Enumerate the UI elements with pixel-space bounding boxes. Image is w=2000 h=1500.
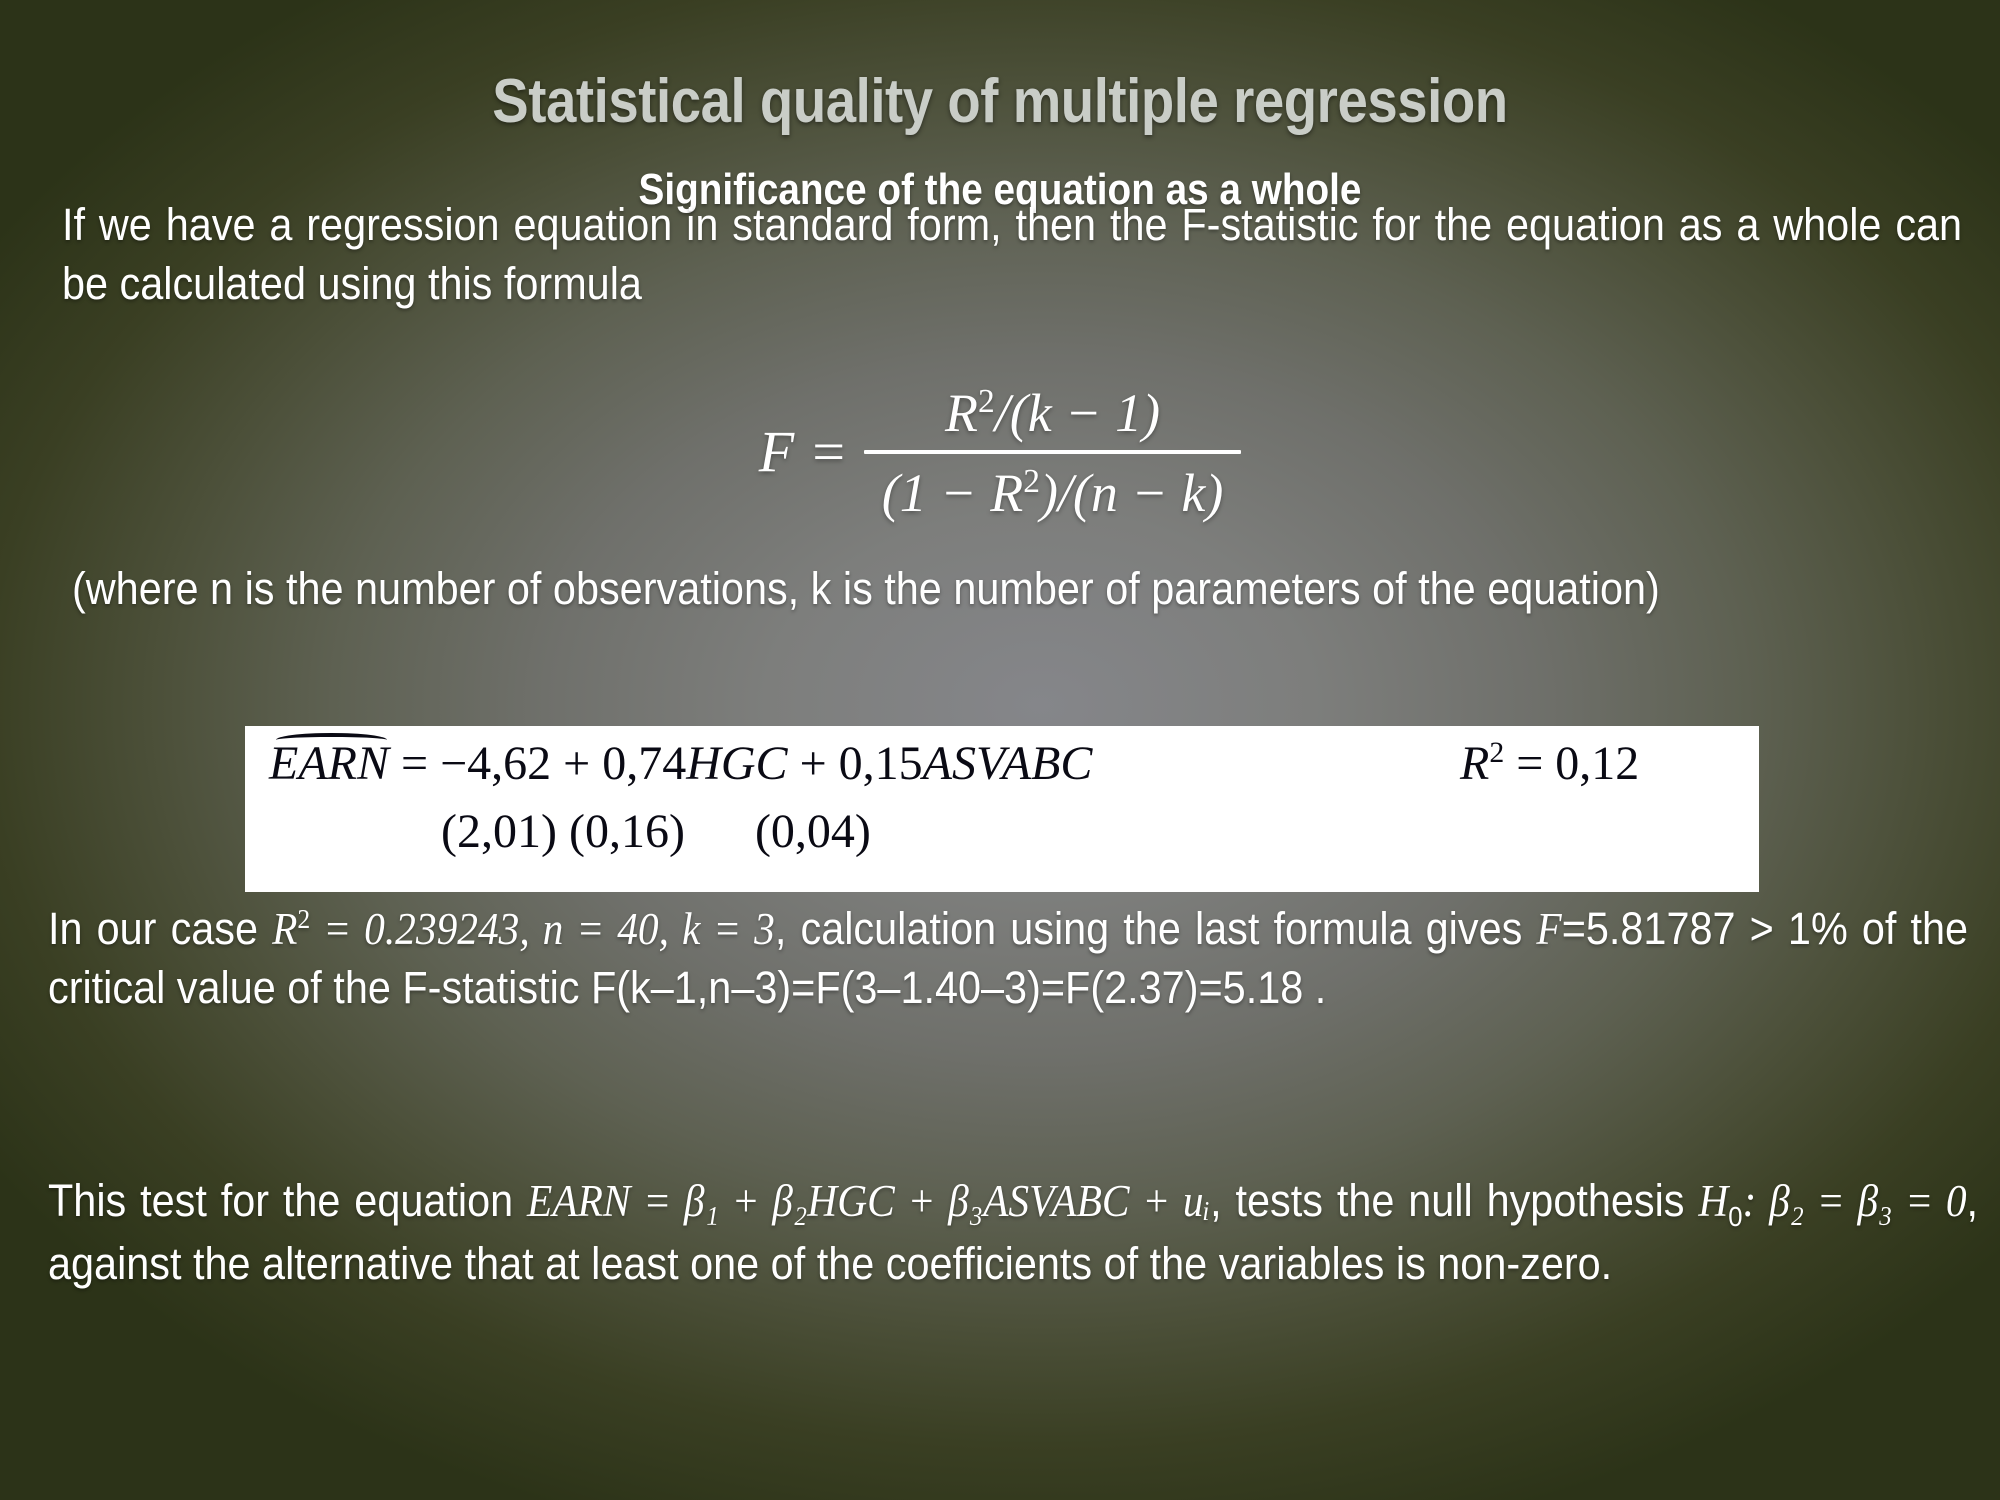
formula-left-hand-side: F = <box>759 418 864 489</box>
numerator-base: R <box>945 383 978 443</box>
equation-plus-1: + <box>563 737 590 790</box>
page-title: Statistical quality of multiple regressi… <box>120 66 1880 137</box>
calc-k-value: = 3 <box>700 904 775 954</box>
calc-n-symbol: n <box>543 904 564 954</box>
equation-r-squared: R2 = 0,12 <box>1460 736 1639 791</box>
calc-r-squared-symbol: R <box>272 904 297 954</box>
presentation-slide: Statistical quality of multiple regressi… <box>0 0 2000 1500</box>
null-hypothesis-subscript: 0 <box>1728 1201 1742 1232</box>
calc-segment-1: In our case <box>48 903 272 954</box>
calc-r-squared-value: = 0.239243, <box>310 904 542 954</box>
intro-paragraph-text: If we have a regression equation in stan… <box>62 196 1962 313</box>
standard-error-intercept: (2,01) <box>441 805 557 858</box>
regression-equation-line: EARN = −4,62 + 0,74HGC + 0,15ASVABC <box>269 736 1092 791</box>
intro-paragraph: If we have a regression equation in stan… <box>62 196 1962 313</box>
equation-coefficient-1: 0,74 <box>602 737 686 790</box>
equation-variable-asvabc: ASVABC <box>923 737 1093 790</box>
test-segment-1: This test for the equation <box>48 1175 527 1226</box>
test-segment-2: , tests the null hypothesis <box>1210 1175 1698 1226</box>
hypothesis-paragraph: This test for the equation EARN = β₁ + β… <box>48 1172 1978 1294</box>
r-squared-exponent: 2 <box>1489 736 1504 769</box>
denominator-lead: (1 − R <box>882 463 1023 523</box>
denominator-rest: )/(n − k) <box>1040 463 1223 523</box>
standard-error-coef-1: (0,16) <box>569 805 685 858</box>
formula-denominator: (1 − R2)/(n − k) <box>864 454 1242 524</box>
denominator-exponent: 2 <box>1023 463 1040 500</box>
calculation-paragraph: In our case R2 = 0.239243, n = 40, k = 3… <box>48 900 1968 1017</box>
null-hypothesis-symbol: H <box>1698 1176 1728 1226</box>
calc-f-symbol: F <box>1536 904 1561 954</box>
where-note-paragraph: (where n is the number of observations, … <box>72 560 1952 619</box>
calc-k-symbol: k <box>682 904 700 954</box>
standard-error-coef-2: (0,04) <box>755 805 871 858</box>
numerator-exponent: 2 <box>978 383 995 420</box>
r-squared-value: 0,12 <box>1555 737 1639 790</box>
equation-intercept: −4,62 <box>440 737 551 790</box>
equation-plus-2: + <box>800 737 827 790</box>
null-hypothesis-statement: : β₂ = β₃ = 0 <box>1743 1176 1967 1226</box>
calc-segment-2: , calculation using the last formula giv… <box>775 903 1537 954</box>
f-statistic-formula: F = R2/(k − 1) (1 − R2)/(n − k) <box>0 382 2000 524</box>
dependent-variable: EARN <box>269 737 389 790</box>
where-note-text: (where n is the number of observations, … <box>72 560 1952 619</box>
test-equation-rest: = β₁ + β₂HGC + β₃ASVABC + uᵢ <box>631 1176 1211 1226</box>
formula-numerator: R2/(k − 1) <box>927 382 1178 450</box>
formula-equals-sign: = <box>809 419 848 484</box>
numerator-rest: /(k − 1) <box>995 383 1160 443</box>
calc-r-squared-exponent: 2 <box>297 904 310 935</box>
equation-equals-sign: = <box>401 737 428 790</box>
test-equation-dependent: EARN <box>527 1176 630 1226</box>
hat-accent-icon <box>276 733 386 741</box>
earn-hat-group: EARN <box>269 736 389 791</box>
equation-coefficient-2: 0,15 <box>839 737 923 790</box>
formula-symbol-F: F <box>759 419 794 484</box>
r-squared-symbol: R <box>1460 737 1489 790</box>
standard-errors-row: (2,01) (0,16)(0,04) <box>441 804 871 859</box>
calculation-paragraph-text: In our case R2 = 0.239243, n = 40, k = 3… <box>48 900 1968 1017</box>
r-squared-equals: = <box>1516 737 1543 790</box>
hypothesis-paragraph-text: This test for the equation EARN = β₁ + β… <box>48 1172 1978 1294</box>
calc-n-value: = 40, <box>563 904 682 954</box>
regression-equation-image: EARN = −4,62 + 0,74HGC + 0,15ASVABC R2 =… <box>245 726 1759 892</box>
formula-fraction: R2/(k − 1) (1 − R2)/(n − k) <box>864 382 1242 524</box>
equation-variable-hgc: HGC <box>686 737 787 790</box>
